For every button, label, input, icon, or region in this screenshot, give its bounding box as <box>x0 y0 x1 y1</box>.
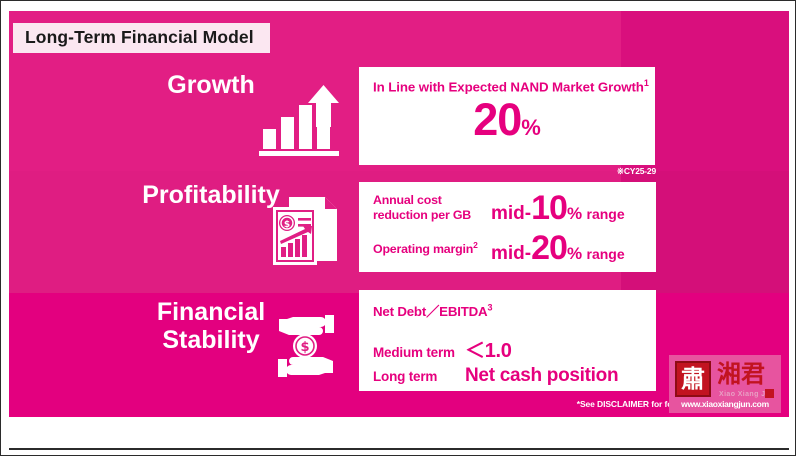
bar-chart-growth-arrow-icon <box>259 83 345 159</box>
metric-label-operating-margin-footnote-ref: 2 <box>473 240 478 250</box>
metric-value-operating-margin-number: 20 <box>531 229 567 267</box>
metric-value-cost-reduction-number: 10 <box>531 189 567 227</box>
footer-divider <box>9 415 789 417</box>
watermark-overlay: 肅 湘君 Xiao Xiang Jun www.xiaoxiangjun.com <box>669 355 781 413</box>
watermark-seal-glyph: 肅 <box>677 363 709 395</box>
metric-value-operating-margin: mid-20% range <box>491 231 625 265</box>
row-label-financial-stability-line1: Financial <box>157 298 265 326</box>
svg-text:$: $ <box>300 340 309 355</box>
card-financial-stability: Net Debt／EBITDA3 Medium term ＜1.0 Long t… <box>359 290 656 391</box>
metric-label-cost-reduction-line1: Annual cost <box>373 193 442 207</box>
page-title-text: Long-Term Financial Model <box>25 28 254 47</box>
card-profitability: Annual cost reduction per GB mid-10% ran… <box>359 182 656 272</box>
metric-label-cost-reduction-line2: reduction per GB <box>373 208 471 222</box>
hands-holding-coin-icon: $ <box>263 313 349 379</box>
watermark-square-mark <box>765 389 774 398</box>
metric-label-operating-margin: Operating margin2 <box>373 240 491 257</box>
watermark-seal-icon: 肅 <box>675 361 711 397</box>
card-stability-heading-text: Net Debt／EBITDA <box>373 304 487 319</box>
financial-report-chart-icon: $ <box>267 193 347 273</box>
footer: KIOXIA 1Storage Capacity Shipment Basis … <box>9 419 789 449</box>
slide-canvas: Long-Term Financial Model Growth Profita… <box>0 0 796 456</box>
metric-value-cost-reduction-unit: % <box>567 204 582 223</box>
metric-value-operating-margin-prefix: mid- <box>491 243 531 264</box>
svg-text:$: $ <box>284 220 290 230</box>
card-growth-heading: In Line with Expected NAND Market Growth… <box>359 67 655 95</box>
card-growth-heading-text: In Line with Expected NAND Market Growth <box>373 79 644 94</box>
card-growth-value: 20% <box>359 97 655 142</box>
row-label-financial-stability-line2: Stability <box>162 326 259 354</box>
stability-term-medium: Medium term <box>373 345 465 360</box>
card-growth-heading-footnote-ref: 1 <box>644 78 649 88</box>
stability-row-long-term: Long term Net cash position <box>359 365 656 387</box>
metric-value-cost-reduction: mid-10% range <box>491 191 625 225</box>
stability-value-medium: ＜1.0 <box>465 334 512 363</box>
metric-label-operating-margin-text: Operating margin <box>373 242 473 256</box>
metric-row-operating-margin: Operating margin2 mid-20% range <box>359 231 656 265</box>
metric-value-cost-reduction-prefix: mid- <box>491 203 531 224</box>
stability-value-long: Net cash position <box>465 365 618 387</box>
metric-value-operating-margin-suffix: range <box>587 246 625 262</box>
card-growth-note: ※CY25-29 <box>571 166 656 177</box>
card-stability-heading: Net Debt／EBITDA3 <box>359 290 656 320</box>
metric-value-cost-reduction-suffix: range <box>587 206 625 222</box>
card-growth: In Line with Expected NAND Market Growth… <box>359 67 655 165</box>
card-stability-heading-footnote-ref: 3 <box>487 303 492 313</box>
watermark-url: www.xiaoxiangjun.com <box>669 399 781 409</box>
card-growth-value-unit: % <box>521 115 541 140</box>
metric-value-operating-margin-unit: % <box>567 244 582 263</box>
page-title: Long-Term Financial Model <box>13 23 270 53</box>
slide-bottom-border <box>9 448 789 450</box>
stability-term-long: Long term <box>373 369 465 384</box>
watermark-han-text: 湘君 <box>717 361 765 387</box>
card-growth-value-number: 20 <box>473 94 521 145</box>
metric-label-cost-reduction: Annual cost reduction per GB <box>373 193 491 222</box>
stability-row-medium-term: Medium term ＜1.0 <box>359 334 656 363</box>
metric-row-cost-reduction: Annual cost reduction per GB mid-10% ran… <box>359 191 656 225</box>
